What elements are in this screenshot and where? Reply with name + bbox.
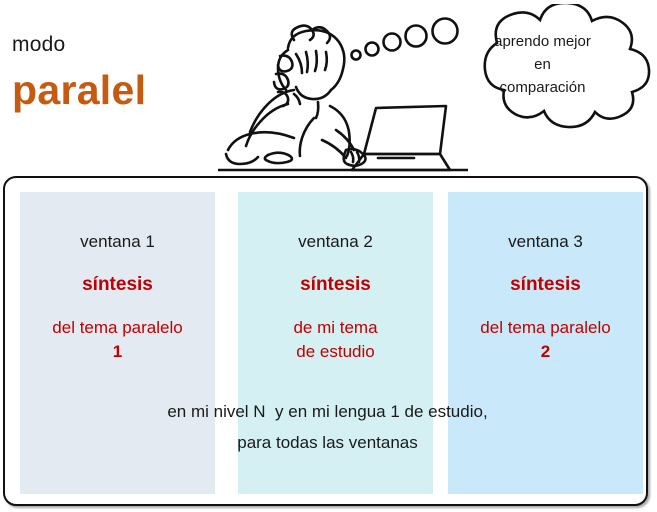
window-title-2: síntesis (238, 274, 433, 296)
mode-name-heading: paralel (12, 67, 146, 114)
thought-bubble-line-1: aprendo mejor (455, 30, 630, 53)
panel-footer-note: en mi nivel N y en mi lengua 1 de estudi… (5, 396, 650, 458)
header-area: modo paralel (0, 0, 657, 172)
window-subtitle-2-line-2: de estudio (238, 340, 433, 364)
window-subtitle-2-line-1: de mi tema (238, 316, 433, 340)
windows-panel: ventana 1 síntesis del tema paralelo 1 v… (3, 176, 648, 506)
window-subtitle-3-line-1: del tema paralelo (448, 316, 643, 340)
panel-footer-line-2: para todas las ventanas (5, 427, 650, 458)
mode-label: modo (12, 33, 65, 57)
window-title-3: síntesis (448, 274, 643, 296)
window-label-1: ventana 1 (20, 232, 215, 252)
window-subtitle-3-line-2: 2 (448, 340, 643, 364)
window-label-2: ventana 2 (238, 232, 433, 252)
panel-footer-line-1: en mi nivel N y en mi lengua 1 de estudi… (5, 396, 650, 427)
window-subtitle-2: de mi tema de estudio (238, 316, 433, 364)
window-label-3: ventana 3 (448, 232, 643, 252)
thought-bubble-line-2: en (455, 53, 630, 76)
thought-bubble-text: aprendo mejor en comparación (455, 30, 630, 99)
window-subtitle-1-line-1: del tema paralelo (20, 316, 215, 340)
window-subtitle-3: del tema paralelo 2 (448, 316, 643, 364)
thought-bubble-line-3: comparación (455, 76, 630, 99)
window-subtitle-1: del tema paralelo 1 (20, 316, 215, 364)
window-title-1: síntesis (20, 274, 215, 296)
window-subtitle-1-line-2: 1 (20, 340, 215, 364)
